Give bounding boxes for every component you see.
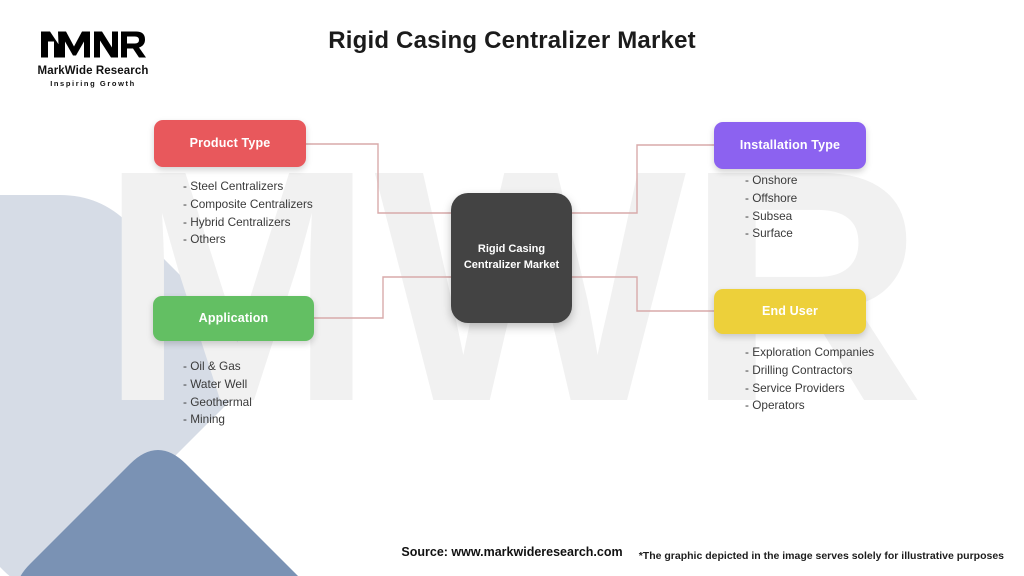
branch-node-product-type[interactable]: Product Type	[154, 120, 306, 167]
branch-node-end-user[interactable]: End User	[714, 289, 866, 334]
connector-product-type	[306, 144, 452, 213]
list-item: - Mining	[183, 411, 252, 429]
center-node-line1: Rigid Casing	[478, 243, 545, 255]
list-item: - Surface	[745, 225, 797, 243]
branch-list-application: - Oil & Gas - Water Well - Geothermal - …	[183, 358, 252, 429]
branch-label-product-type: Product Type	[190, 136, 271, 152]
list-item: - Operators	[745, 397, 874, 415]
list-item: - Drilling Contractors	[745, 362, 874, 380]
branch-node-installation-type[interactable]: Installation Type	[714, 122, 866, 169]
list-item: - Subsea	[745, 208, 797, 226]
list-item: - Geothermal	[183, 394, 252, 412]
infographic-canvas: MWR MarkWide Research Inspiring Growth R…	[0, 0, 1024, 576]
branch-list-installation-type: - Onshore - Offshore - Subsea - Surface	[745, 172, 797, 243]
connector-end-user	[572, 277, 714, 311]
disclaimer-text: *The graphic depicted in the image serve…	[639, 550, 1004, 562]
list-item: - Onshore	[745, 172, 797, 190]
center-node-label: Rigid Casing Centralizer Market	[456, 242, 567, 274]
branch-label-installation-type: Installation Type	[740, 138, 840, 154]
connector-application	[313, 277, 452, 318]
list-item: - Offshore	[745, 190, 797, 208]
branch-node-application[interactable]: Application	[153, 296, 314, 341]
list-item: - Oil & Gas	[183, 358, 252, 376]
connector-installation-type	[572, 145, 714, 213]
center-node-line2: Centralizer Market	[464, 259, 559, 271]
list-item: - Service Providers	[745, 380, 874, 398]
branch-list-product-type: - Steel Centralizers - Composite Central…	[183, 178, 313, 249]
branch-list-end-user: - Exploration Companies - Drilling Contr…	[745, 344, 874, 415]
center-node[interactable]: Rigid Casing Centralizer Market	[451, 193, 572, 323]
list-item: - Hybrid Centralizers	[183, 214, 313, 232]
branch-label-end-user: End User	[762, 304, 818, 320]
branch-label-application: Application	[199, 311, 269, 327]
list-item: - Composite Centralizers	[183, 196, 313, 214]
list-item: - Others	[183, 231, 313, 249]
list-item: - Exploration Companies	[745, 344, 874, 362]
list-item: - Water Well	[183, 376, 252, 394]
list-item: - Steel Centralizers	[183, 178, 313, 196]
